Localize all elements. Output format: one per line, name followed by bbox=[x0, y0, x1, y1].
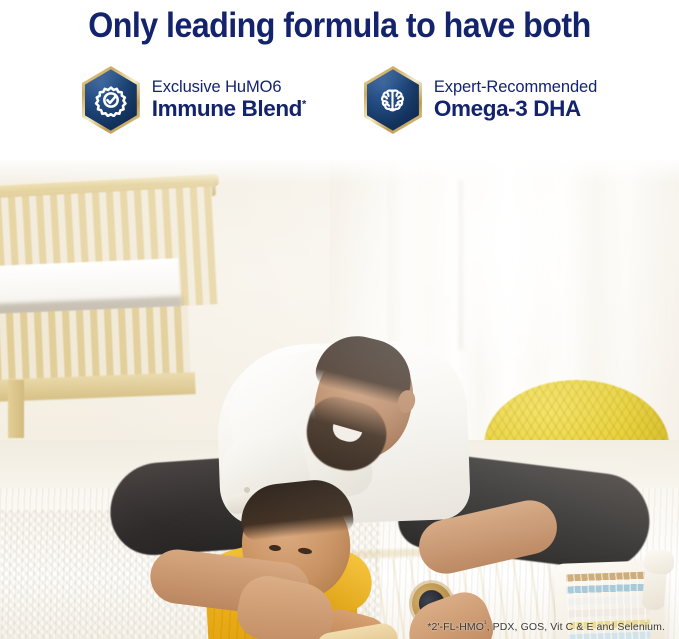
crib-slats-lower bbox=[0, 306, 191, 384]
badge-omega-line2-text: Omega-3 DHA bbox=[434, 96, 581, 121]
father-sleeve-button bbox=[244, 487, 250, 493]
headline-emphasis: both bbox=[523, 6, 591, 45]
footnote-disclaimer: *2'-FL-HMO¹, PDX, GOS, Vit C & E and Sel… bbox=[427, 621, 665, 633]
badge-omega-text: Expert-Recommended Omega-3 DHA bbox=[434, 79, 597, 121]
badge-omega-line1: Expert-Recommended bbox=[434, 79, 597, 96]
header-band: Only leading formula to have both bbox=[0, 0, 679, 160]
badge-list: Exclusive HuMO6 Immune Blend* bbox=[0, 66, 679, 134]
badge-immune-blend: Exclusive HuMO6 Immune Blend* bbox=[82, 66, 306, 134]
advertisement-banner: Only leading formula to have both bbox=[0, 0, 679, 639]
hexagon-medallion-omega bbox=[364, 66, 422, 134]
window-light-glow bbox=[430, 158, 580, 378]
gear-check-icon bbox=[82, 66, 140, 134]
badge-omega-3-dha: Expert-Recommended Omega-3 DHA bbox=[364, 66, 597, 134]
curtain-fold bbox=[459, 180, 464, 350]
footnote-suffix: , PDX, GOS, Vit C & E and Selenium. bbox=[487, 621, 665, 633]
lifestyle-photo bbox=[0, 158, 679, 639]
hexagon-medallion-immune bbox=[82, 66, 140, 134]
badge-immune-line1: Exclusive HuMO6 bbox=[152, 79, 306, 96]
footnote-prefix: *2'-FL-HMO bbox=[427, 621, 484, 633]
crib-leg bbox=[8, 380, 24, 438]
page-title: Only leading formula to have both bbox=[27, 6, 652, 46]
headline-lead: Only leading formula to have bbox=[88, 6, 523, 45]
brain-icon bbox=[364, 66, 422, 134]
badge-immune-line2-text: Immune Blend bbox=[152, 96, 302, 121]
badge-immune-line2: Immune Blend* bbox=[152, 97, 306, 120]
giraffe-head bbox=[643, 549, 675, 576]
badge-immune-superscript: * bbox=[302, 99, 306, 111]
badge-immune-text: Exclusive HuMO6 Immune Blend* bbox=[152, 79, 306, 121]
badge-omega-line2: Omega-3 DHA bbox=[434, 97, 597, 120]
